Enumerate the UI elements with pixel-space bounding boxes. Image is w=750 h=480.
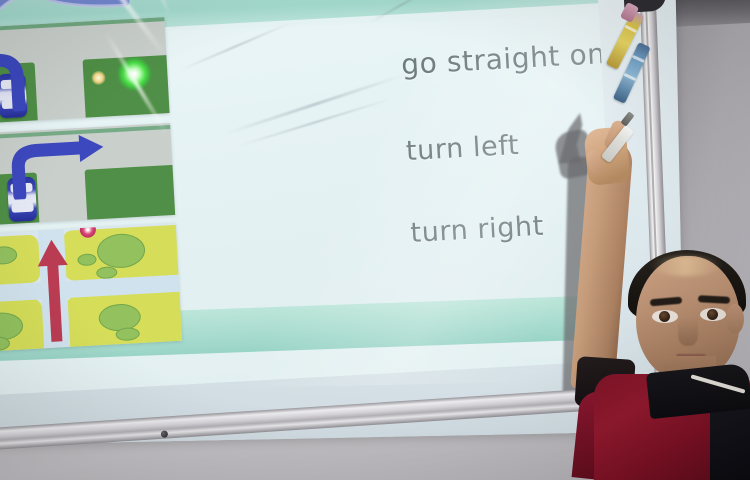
panel-turn-right [0, 123, 175, 228]
arrow-right-icon [0, 132, 128, 201]
hair-highlight [650, 256, 722, 276]
slide-line-2: turn left [405, 130, 520, 167]
iris-right [707, 309, 718, 320]
marker-band [623, 73, 636, 81]
classroom-photo-scene: go straight on turn left turn right [0, 0, 750, 480]
projected-slide: go straight on turn left turn right [0, 0, 618, 397]
tray-screw [161, 430, 168, 437]
panel-go-straight-on [0, 223, 182, 354]
arrow-straight-icon [34, 237, 74, 345]
marker-band [632, 55, 645, 63]
arrow-left-icon [0, 39, 65, 115]
car-window-icon [11, 203, 33, 213]
nose [678, 318, 698, 346]
ear [726, 304, 744, 334]
marker-band [624, 25, 637, 34]
iris-left [659, 311, 670, 322]
